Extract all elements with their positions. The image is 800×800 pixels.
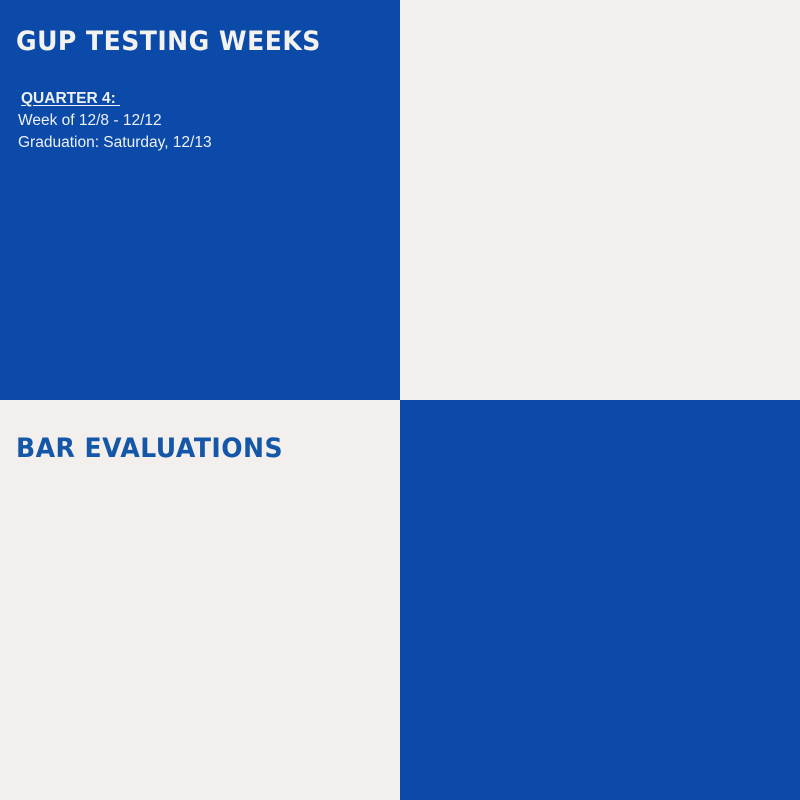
subheading-row: QUARTER 4: [18, 88, 378, 110]
panel-title-gup-testing-weeks: GUP TESTING WEEKS [16, 28, 321, 55]
panel-dan-test-dates: DAN TEST DATES FALL CYCLE: Fall Dan Test… [400, 0, 800, 400]
panel-gup-testing-weeks: GUP TESTING WEEKS QUARTER 4: Week of 12/… [0, 0, 400, 400]
subheading-quarter-4: QUARTER 4: [21, 88, 120, 110]
schedule-board: GUP TESTING WEEKS QUARTER 4: Week of 12/… [0, 0, 800, 800]
panel-bar-evaluations: BAR EVALUATIONS QUARTER 4: Red: 9/22 - 9… [0, 400, 400, 800]
detail-line: Week of 12/8 - 12/12 [18, 110, 378, 132]
panel-title-bar-evaluations: BAR EVALUATIONS [16, 435, 283, 462]
detail-line: Graduation: Saturday, 12/13 [18, 132, 378, 154]
panel-tournaments-x-games: TOURNAMENTS/X-GAMES Victory Cup Tourname… [400, 400, 800, 800]
panel-body-gup-testing-weeks: QUARTER 4: Week of 12/8 - 12/12 Graduati… [18, 88, 378, 154]
